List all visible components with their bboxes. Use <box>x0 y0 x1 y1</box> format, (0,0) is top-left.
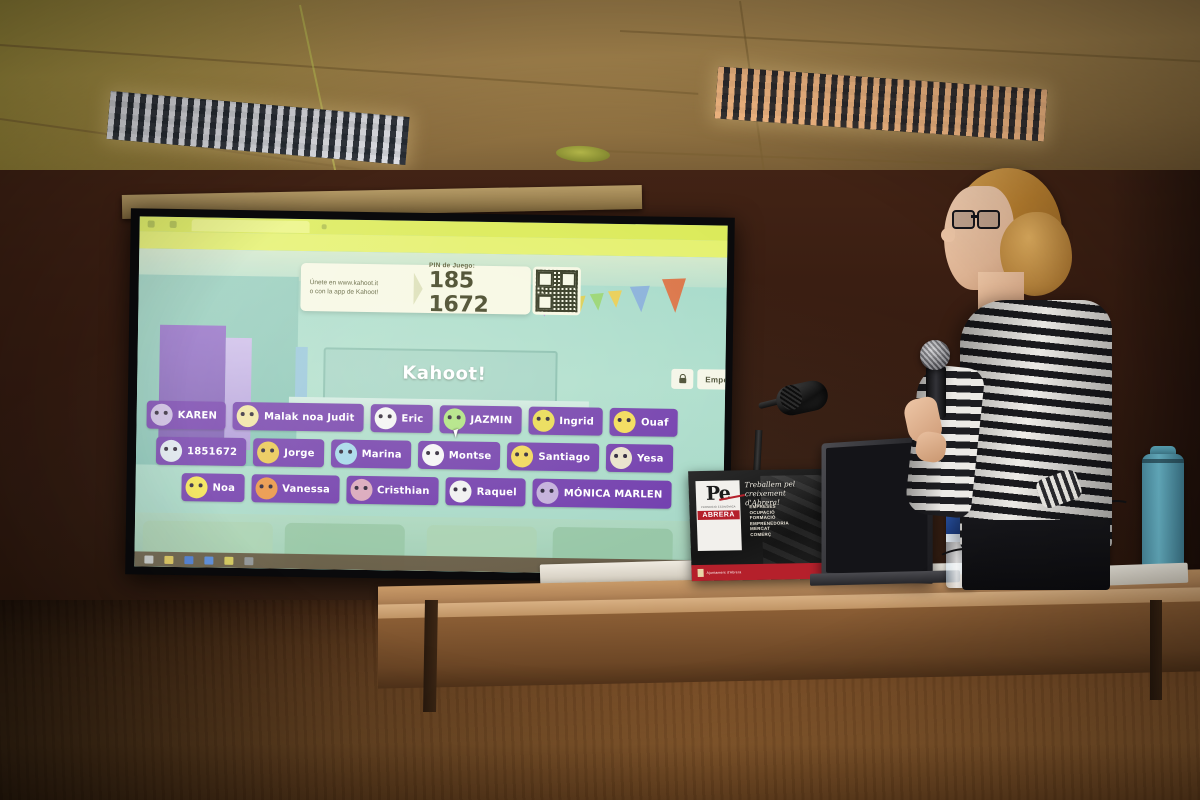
folder-icon[interactable] <box>224 556 233 564</box>
player-name: Cristhian <box>377 485 430 497</box>
player-tile: JAZMIN <box>439 405 521 434</box>
player-tile: Montse <box>418 441 501 470</box>
start-game-button[interactable]: Empezar <box>697 369 727 390</box>
qr-code[interactable] <box>532 267 581 316</box>
player-tile: Ingrid <box>528 407 603 436</box>
player-list: KAREN Malak noa Judit Eric JAZMIN Ingrid… <box>141 400 725 517</box>
player-tile: MÓNICA MARLEN <box>533 479 672 509</box>
card-divider <box>413 265 425 313</box>
kahoot-logo: Kahoot! <box>402 363 486 385</box>
player-tile: Malak noa Judit <box>233 402 364 432</box>
player-avatar <box>443 408 465 430</box>
browser-tab-active[interactable] <box>192 219 310 233</box>
lock-icon <box>678 374 687 384</box>
pe-letters: Pe <box>706 482 731 504</box>
player-avatar <box>422 444 444 466</box>
game-pin-card: Únete en www.kahoot.it o con la app de K… <box>300 263 531 315</box>
qr-finder <box>537 295 552 310</box>
glasses-lens <box>977 210 1000 229</box>
player-avatar <box>160 440 182 462</box>
game-pin-value: 185 1672 <box>428 268 531 318</box>
join-instructions: Únete en www.kahoot.it o con la app de K… <box>301 278 414 298</box>
projection-screen: ← → ⟳ https://play.kahoot.it/v2/lobby?qu… <box>134 216 727 575</box>
player-avatar <box>532 410 554 432</box>
presenter-skirt <box>962 520 1110 590</box>
pe-logo: Pe PROMOCIÓ ECONÒMICA ABRERA <box>695 480 741 551</box>
qr-finder <box>561 272 576 287</box>
player-name: KAREN <box>178 410 218 422</box>
player-name: Noa <box>212 482 235 493</box>
player-avatar <box>511 445 533 467</box>
start-icon[interactable] <box>144 555 153 563</box>
lock-button[interactable] <box>671 369 693 389</box>
player-name: MÓNICA MARLEN <box>564 488 663 501</box>
player-name: Malak noa Judit <box>264 411 355 423</box>
sign-service-list: EMPRESES OCUPACIÓ FORMACIÓ EMPRENEDORIA … <box>749 503 789 537</box>
player-tile: Eric <box>370 404 432 433</box>
abrera-brand: ABRERA <box>697 510 740 520</box>
player-name: Yesa <box>637 453 664 464</box>
player-name: Marina <box>362 448 402 460</box>
player-avatar <box>350 479 372 501</box>
player-avatar <box>334 442 356 464</box>
player-tile: Noa <box>181 473 244 502</box>
player-name: 1851672 <box>187 446 237 458</box>
player-tile: Santiago <box>507 442 599 471</box>
coat-of-arms-icon <box>698 569 704 577</box>
join-line-2: o con la app de Kahoot! <box>310 287 414 298</box>
app-icon[interactable] <box>204 556 213 564</box>
player-name: Jorge <box>284 447 315 458</box>
table-leg <box>1150 600 1162 700</box>
new-tab-icon[interactable] <box>322 224 327 229</box>
player-name: Ingrid <box>559 416 594 428</box>
pe-logo-text: Pe <box>706 484 731 503</box>
player-name: Vanessa <box>282 483 330 495</box>
player-tile: Jorge <box>253 438 324 467</box>
player-avatar <box>257 441 279 463</box>
service-item: COMERÇ <box>750 531 789 537</box>
tab-icon <box>148 221 155 228</box>
microphone-grille <box>920 340 950 370</box>
sign-footer: Ajuntament d'Abrera <box>691 563 826 581</box>
player-name: Eric <box>401 413 423 424</box>
player-tile: Vanessa <box>251 474 339 503</box>
player-name: JAZMIN <box>470 414 512 426</box>
app-icon[interactable] <box>244 557 253 565</box>
player-name: Montse <box>449 450 492 462</box>
thermos-ring <box>1142 459 1184 463</box>
player-name: Ouaf <box>641 417 669 428</box>
sign-footer-text: Ajuntament d'Abrera <box>707 570 742 575</box>
podium-sign: Pe PROMOCIÓ ECONÒMICA ABRERA Treballem p… <box>688 469 826 581</box>
explorer-icon[interactable] <box>164 555 173 563</box>
player-tile: Cristhian <box>346 476 439 505</box>
player-tile: Ouaf <box>610 408 678 437</box>
player-avatar <box>255 477 277 499</box>
player-row: KAREN Malak noa Judit Eric JAZMIN Ingrid… <box>142 400 724 437</box>
presenter-torso-shading <box>960 300 1112 550</box>
player-avatar <box>374 407 396 429</box>
player-avatar <box>610 447 632 469</box>
player-avatar <box>449 480 471 502</box>
player-avatar <box>151 404 173 426</box>
bunting-flag <box>608 290 623 308</box>
player-row: 1851672 Jorge Marina Montse Santiago Yes… <box>142 436 724 473</box>
player-tile: Marina <box>330 439 411 468</box>
table-leg <box>423 600 438 712</box>
player-avatar <box>537 482 559 504</box>
ceiling-green-tint <box>0 0 560 182</box>
player-avatar <box>614 411 636 433</box>
presenter-nose <box>941 228 955 242</box>
player-avatar <box>237 405 259 427</box>
player-tile: Yesa <box>606 444 673 473</box>
tab-icon <box>170 221 177 228</box>
player-tile: KAREN <box>146 401 226 430</box>
qr-finder <box>538 272 553 287</box>
kahoot-lobby-scene: Únete en www.kahoot.it o con la app de K… <box>134 248 727 575</box>
player-name: Santiago <box>538 451 590 463</box>
player-tile: 1851672 <box>156 437 247 466</box>
player-tile: Raquel <box>445 477 526 506</box>
pin-block: PIN de Juego: 185 1672 <box>424 261 531 318</box>
player-name: Raquel <box>477 486 517 498</box>
player-row: Noa Vanessa Cristhian Raquel MÓNICA MARL… <box>141 472 723 509</box>
bunting-flag <box>590 293 605 311</box>
presenter-glasses <box>952 210 996 226</box>
photo-scene: ← → ⟳ https://play.kahoot.it/v2/lobby?qu… <box>0 0 1200 800</box>
player-avatar <box>185 476 207 498</box>
pe-logo-subtitle: PROMOCIÓ ECONÒMICA <box>701 505 736 509</box>
glasses-lens <box>952 210 975 229</box>
browser-icon[interactable] <box>184 556 193 564</box>
bunting-flag <box>662 278 687 313</box>
bunting-flag <box>630 286 651 313</box>
